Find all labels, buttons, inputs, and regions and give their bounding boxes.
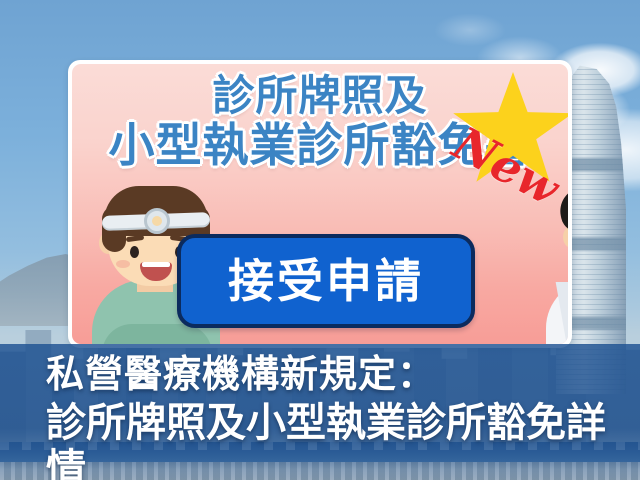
promo-headline-line2: 小型執業診所豁免書 — [72, 121, 568, 170]
accept-application-label: 接受申請 — [228, 258, 424, 304]
promo-headline-line1: 診所牌照及 — [72, 74, 568, 119]
accept-application-button[interactable]: 接受申請 — [177, 234, 475, 328]
doctor-left-eye-left — [130, 246, 139, 258]
doctor-right-avatar — [542, 176, 568, 344]
promo-banner: 診所牌照及 小型執業診所豁免書 New 接受申請 私營醫療機構新規定： 診所牌照… — [0, 0, 640, 480]
promo-headline: 診所牌照及 小型執業診所豁免書 — [72, 74, 568, 169]
doctor-left-cheek-left — [116, 260, 130, 268]
caption-line2: 診所牌照及小型執業診所豁免詳情 — [46, 400, 626, 480]
doctor-right-ear-left — [563, 226, 568, 248]
promo-card: 診所牌照及 小型執業診所豁免書 New 接受申請 — [68, 60, 572, 348]
caption-block: 私營醫療機構新規定： 診所牌照及小型執業診所豁免詳情 — [46, 352, 626, 480]
caption-line1: 私營醫療機構新規定： — [46, 352, 626, 396]
promo-card-inner: 診所牌照及 小型執業診所豁免書 New 接受申請 — [72, 64, 568, 344]
doctor-right-hair-sweep — [556, 184, 568, 235]
head-mirror-icon — [144, 208, 170, 234]
